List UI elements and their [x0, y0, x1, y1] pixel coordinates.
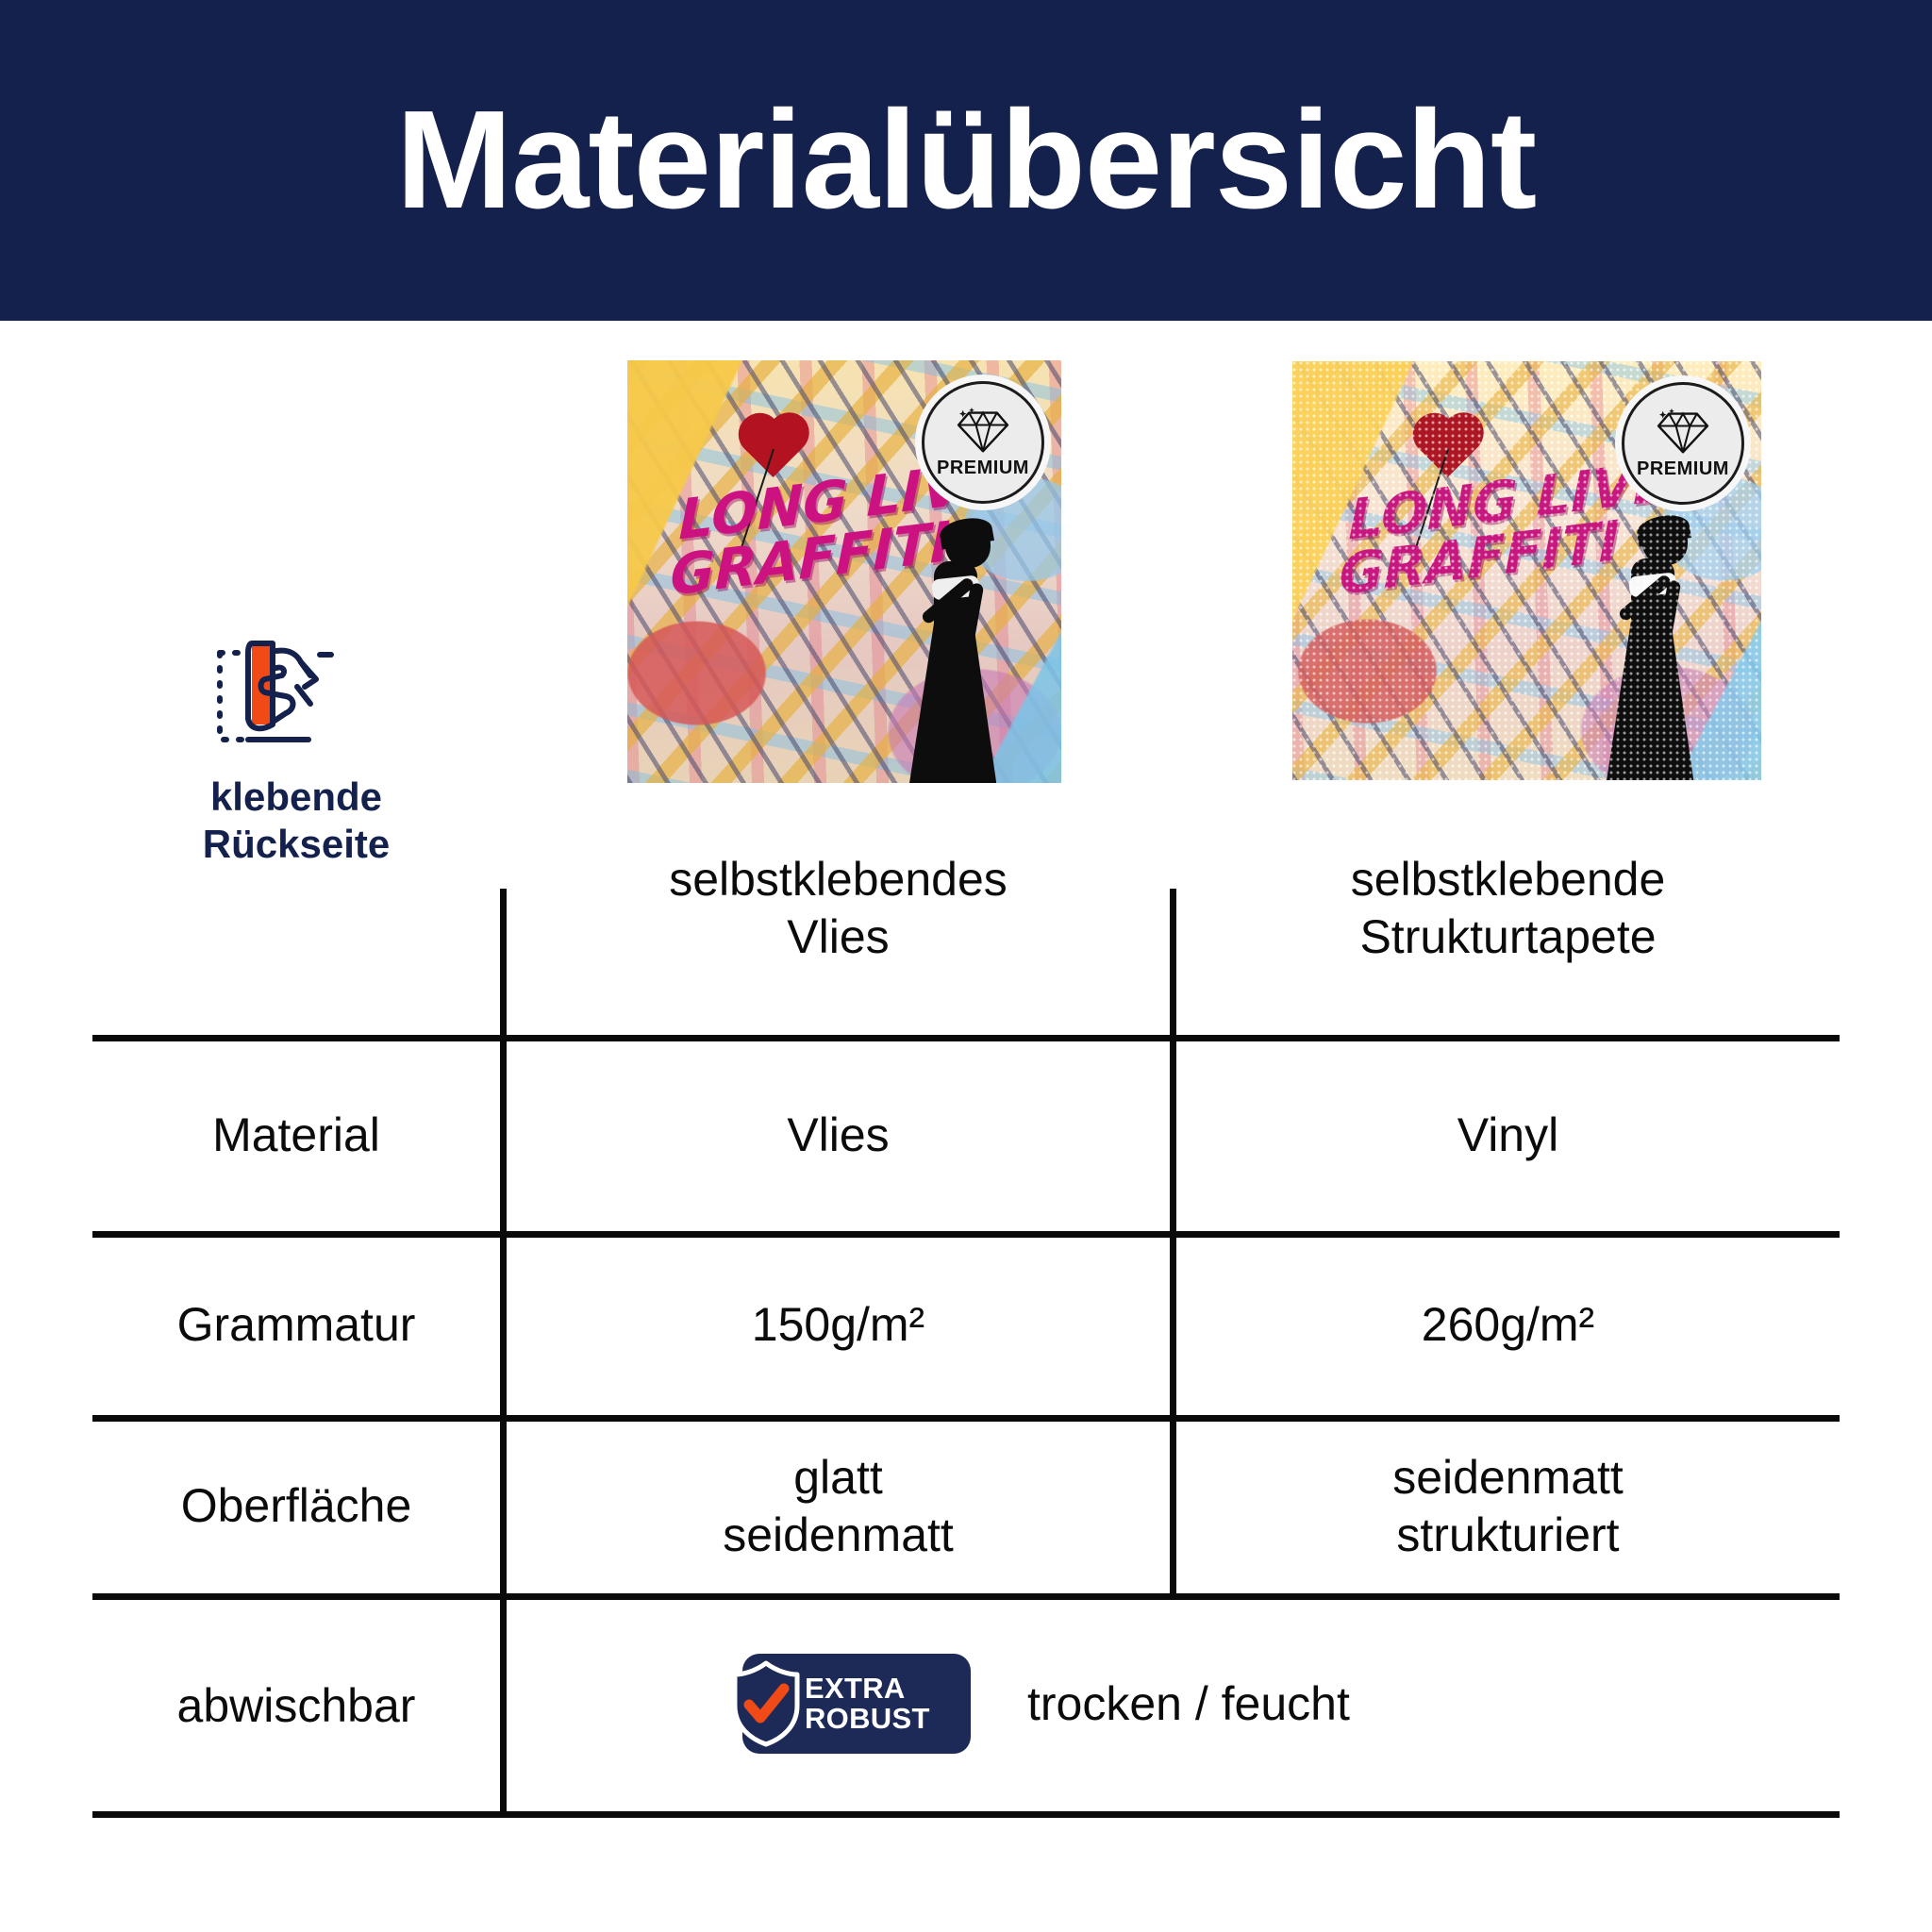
diamond-icon	[1657, 408, 1709, 456]
row-label-material: Material	[92, 1041, 500, 1228]
graffiti-tag-line2: GRAFFITI	[1339, 515, 1620, 600]
row-label-abwischbar: abwischbar	[92, 1600, 500, 1811]
column-header-vlies: selbstklebendes Vlies	[507, 785, 1170, 1032]
page-title: Materialübersicht	[396, 91, 1536, 230]
column-header-vlies-line1: selbstklebendes	[669, 853, 1008, 906]
cell-oberflaeche-strukturtapete: seidenmatt strukturiert	[1176, 1422, 1840, 1591]
extra-robust-badge: EXTRA ROBUST	[742, 1654, 971, 1754]
heart-balloon-icon	[1419, 420, 1477, 476]
cell-abwischbar-value: EXTRA ROBUST trocken / feucht	[507, 1593, 1840, 1814]
material-comparison-table: klebende Rückseite selbstklebendes Vlies…	[92, 889, 1840, 1821]
peel-adhesive-backing-icon	[207, 634, 386, 758]
diamond-icon	[957, 408, 1009, 455]
column-header-strukturtapete: selbstklebende Strukturtapete	[1176, 785, 1840, 1032]
cell-oberflaeche-strukturtapete-line2: strukturiert	[1396, 1508, 1619, 1561]
abwischbar-value-text: trocken / feucht	[1027, 1676, 1350, 1731]
cell-material-vlies: Vlies	[507, 1041, 1170, 1228]
column-header-strukturtapete-line2: Strukturtapete	[1359, 910, 1656, 963]
product-image-vlies: LONG LIVE GRAFFITI PREMIUM	[627, 360, 1061, 783]
premium-badge-label: PREMIUM	[1637, 459, 1729, 478]
premium-badge-label: PREMIUM	[937, 458, 1029, 477]
page-header: Materialübersicht	[0, 0, 1932, 321]
extra-robust-line1: EXTRA	[805, 1672, 906, 1705]
banksy-girl-silhouette	[1582, 497, 1724, 780]
table-rule	[92, 1415, 1840, 1422]
column-divider-2	[1170, 889, 1176, 1593]
cell-oberflaeche-vlies: glatt seidenmatt	[507, 1422, 1170, 1591]
column-header-strukturtapete-line1: selbstklebende	[1351, 853, 1666, 906]
extra-robust-line2: ROBUST	[805, 1702, 930, 1735]
sticky-backing-feature: klebende Rückseite	[92, 634, 500, 867]
table-rule	[92, 1231, 1840, 1238]
heart-balloon-icon	[744, 420, 803, 476]
sticky-backing-caption: klebende Rückseite	[203, 774, 390, 867]
premium-badge: PREMIUM	[922, 381, 1044, 504]
banksy-girl-silhouette	[885, 500, 1026, 783]
product-image-strukturtapete: LONG LIVE GRAFFITI PREMIUM	[1292, 361, 1761, 780]
premium-badge: PREMIUM	[1622, 382, 1744, 505]
cell-material-strukturtapete: Vinyl	[1176, 1041, 1840, 1228]
extra-robust-badge-text: EXTRA ROBUST	[805, 1674, 930, 1734]
row-label-oberflaeche: Oberfläche	[92, 1422, 500, 1591]
cell-grammatur-strukturtapete: 260g/m²	[1176, 1238, 1840, 1412]
cell-grammatur-vlies: 150g/m²	[507, 1238, 1170, 1412]
table-rule	[92, 1035, 1840, 1041]
column-header-vlies-line2: Vlies	[787, 910, 889, 963]
cell-oberflaeche-vlies-line2: seidenmatt	[723, 1508, 954, 1561]
graffiti-tag-line1: LONG LIVE	[1348, 456, 1671, 546]
cell-oberflaeche-strukturtapete-line1: seidenmatt	[1392, 1451, 1624, 1504]
shield-check-icon	[729, 1660, 803, 1747]
column-divider-1	[500, 889, 507, 1818]
sticky-caption-line1: klebende	[210, 774, 382, 819]
row-label-grammatur: Grammatur	[92, 1238, 500, 1412]
sticky-caption-line2: Rückseite	[203, 822, 390, 866]
cell-oberflaeche-vlies-line1: glatt	[793, 1451, 883, 1504]
